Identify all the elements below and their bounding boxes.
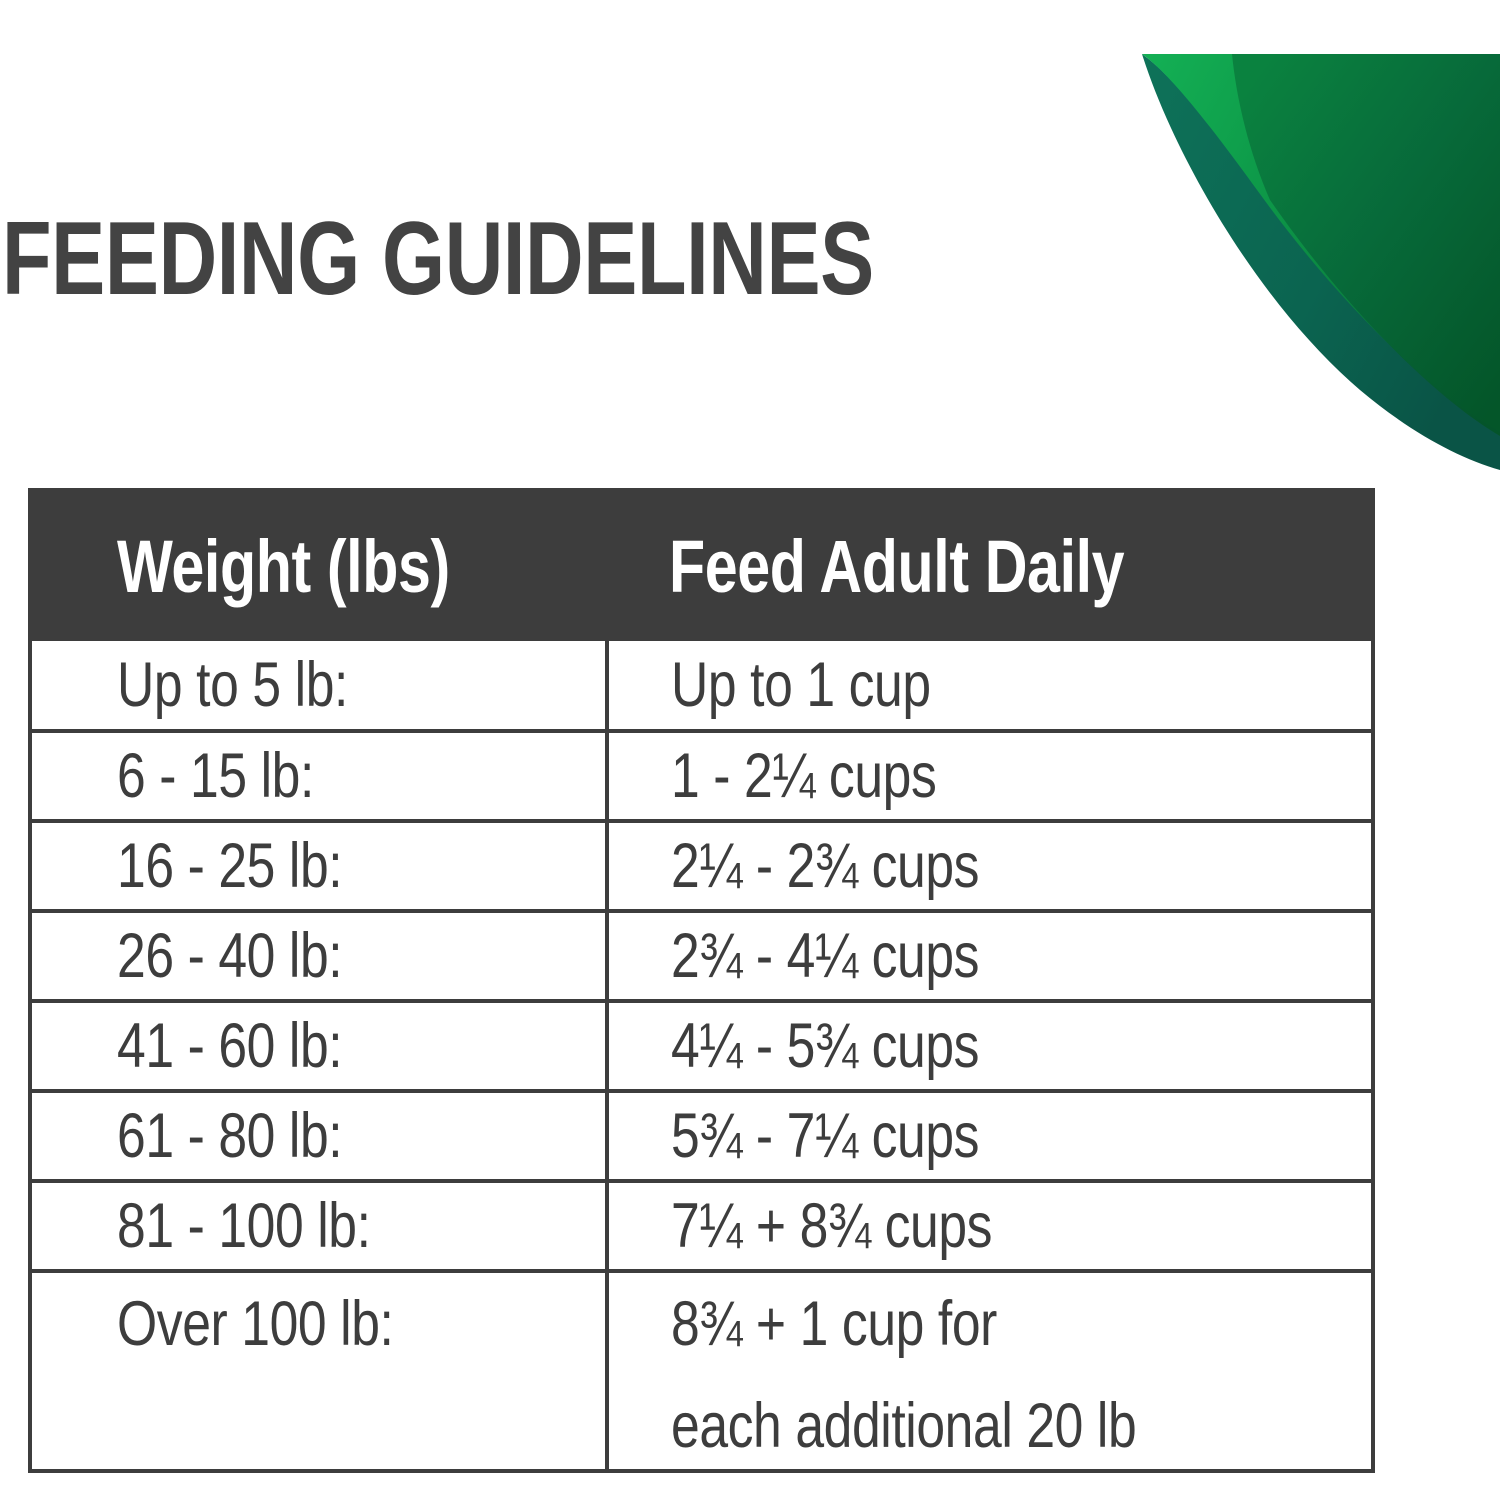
cell-feed-label: 4¼ - 5¾ cups [671,1011,979,1081]
cell-feed: 4¼ - 5¾ cups [607,1001,1371,1091]
table-row: 6 - 15 lb: 1 - 2¼ cups [32,731,1371,821]
cell-feed-label: Up to 1 cup [671,650,931,720]
cell-weight-label: 6 - 15 lb: [117,741,314,811]
page-title: FEEDING GUIDELINES [2,207,874,311]
cell-weight: 41 - 60 lb: [32,1001,607,1091]
table-row: Over 100 lb: 8¾ + 1 cup for each additio… [32,1271,1371,1469]
column-header-weight: Weight (lbs) [32,492,607,641]
cell-weight: 61 - 80 lb: [32,1091,607,1181]
cell-weight-label: 41 - 60 lb: [117,1011,342,1081]
cell-weight-label: 61 - 80 lb: [117,1101,342,1171]
cell-feed-label: 5¾ - 7¼ cups [671,1101,979,1171]
feeding-guidelines-table: Weight (lbs) Feed Adult Daily Up to 5 lb… [28,488,1375,1473]
cell-weight-label: 26 - 40 lb: [117,921,342,991]
cell-weight: 16 - 25 lb: [32,821,607,911]
table-row: 26 - 40 lb: 2¾ - 4¼ cups [32,911,1371,1001]
cell-feed: 2¼ - 2¾ cups [607,821,1371,911]
cell-feed: 1 - 2¼ cups [607,731,1371,821]
cell-weight: 81 - 100 lb: [32,1181,607,1271]
cell-feed: 2¾ - 4¼ cups [607,911,1371,1001]
cell-weight-label: Over 100 lb: [117,1289,393,1359]
column-header-weight-label: Weight (lbs) [117,530,450,604]
table-row: 16 - 25 lb: 2¼ - 2¾ cups [32,821,1371,911]
cell-feed-label: 2¼ - 2¾ cups [671,831,979,901]
cell-feed-label: 2¾ - 4¼ cups [671,921,979,991]
cell-weight-label: Up to 5 lb: [117,650,348,720]
table-row: Up to 5 lb: Up to 1 cup [32,641,1371,731]
cell-feed-label: 7¼ + 8¾ cups [671,1191,992,1261]
cell-feed: Up to 1 cup [607,641,1371,731]
cell-weight-label: 81 - 100 lb: [117,1191,371,1261]
table-row: 61 - 80 lb: 5¾ - 7¼ cups [32,1091,1371,1181]
cell-weight: 6 - 15 lb: [32,731,607,821]
cell-feed: 5¾ - 7¼ cups [607,1091,1371,1181]
column-header-feed: Feed Adult Daily [607,492,1371,641]
column-header-feed-label: Feed Adult Daily [669,530,1124,604]
cell-feed-label-line1: 8¾ + 1 cup for [671,1289,997,1359]
green-swoosh-graphic [1080,0,1500,470]
table-header-row: Weight (lbs) Feed Adult Daily [32,492,1371,641]
table-row: 41 - 60 lb: 4¼ - 5¾ cups [32,1001,1371,1091]
cell-weight: Over 100 lb: [32,1271,607,1469]
cell-weight: 26 - 40 lb: [32,911,607,1001]
cell-feed: 7¼ + 8¾ cups [607,1181,1371,1271]
cell-feed: 8¾ + 1 cup for each additional 20 lb [607,1271,1371,1469]
table-row: 81 - 100 lb: 7¼ + 8¾ cups [32,1181,1371,1271]
cell-feed-label: 1 - 2¼ cups [671,741,936,811]
cell-feed-label-line2: each additional 20 lb [671,1391,1136,1461]
cell-weight-label: 16 - 25 lb: [117,831,342,901]
cell-weight: Up to 5 lb: [32,641,607,731]
